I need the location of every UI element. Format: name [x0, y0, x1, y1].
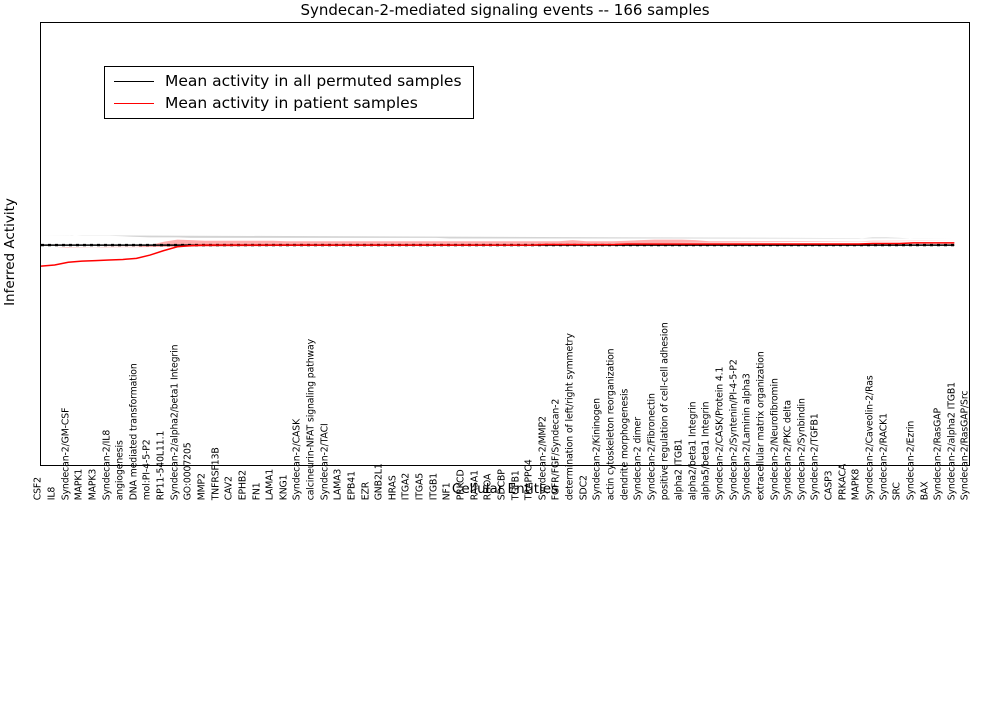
y-tick-mark — [40, 189, 41, 190]
legend-swatch-permuted — [114, 81, 154, 82]
y-tick-mark — [40, 244, 41, 245]
patient-mean-line — [41, 243, 954, 266]
legend-label-permuted: Mean activity in all permuted samples — [165, 72, 462, 90]
permuted-confidence-band — [41, 235, 954, 238]
x-tick-label: DNA mediated transformation — [130, 363, 139, 500]
x-axis-label: Cellular Entities — [40, 481, 970, 497]
legend-swatch-patient — [114, 103, 154, 104]
x-tick-label: positive regulation of cell-cell adhesio… — [661, 322, 670, 500]
y-tick-mark — [40, 410, 41, 411]
legend-item-patient: Mean activity in patient samples — [114, 94, 462, 112]
legend-item-permuted: Mean activity in all permuted samples — [114, 72, 462, 90]
y-tick-mark — [40, 299, 41, 300]
x-tick-label: Syndecan-2/Syntenin/PI-4-5-P2 — [729, 359, 738, 500]
x-tick-label: Syndecan-2/CASK/Protein 4.1 — [716, 366, 725, 500]
legend-label-patient: Mean activity in patient samples — [165, 94, 418, 112]
y-tick-mark — [40, 355, 41, 356]
x-tick-label: calcineurin-NFAT signaling pathway — [307, 339, 316, 500]
x-tick-label: extracellular matrix organization — [757, 351, 766, 500]
y-tick-mark — [40, 78, 41, 79]
y-tick-mark — [40, 134, 41, 135]
x-tick-label: Syndecan-2/alpha2/beta1 Integrin — [170, 344, 179, 500]
chart-figure: Syndecan-2-mediated signaling events -- … — [0, 0, 1000, 500]
y-tick-mark — [40, 23, 41, 24]
y-axis-label: Inferred Activity — [2, 0, 18, 702]
chart-title: Syndecan-2-mediated signaling events -- … — [40, 1, 970, 19]
legend: Mean activity in all permuted samples Me… — [104, 66, 474, 119]
x-tick-label: actin cytoskeleton reorganization — [607, 348, 616, 500]
x-tick-label: determination of left/right symmetry — [566, 333, 575, 500]
